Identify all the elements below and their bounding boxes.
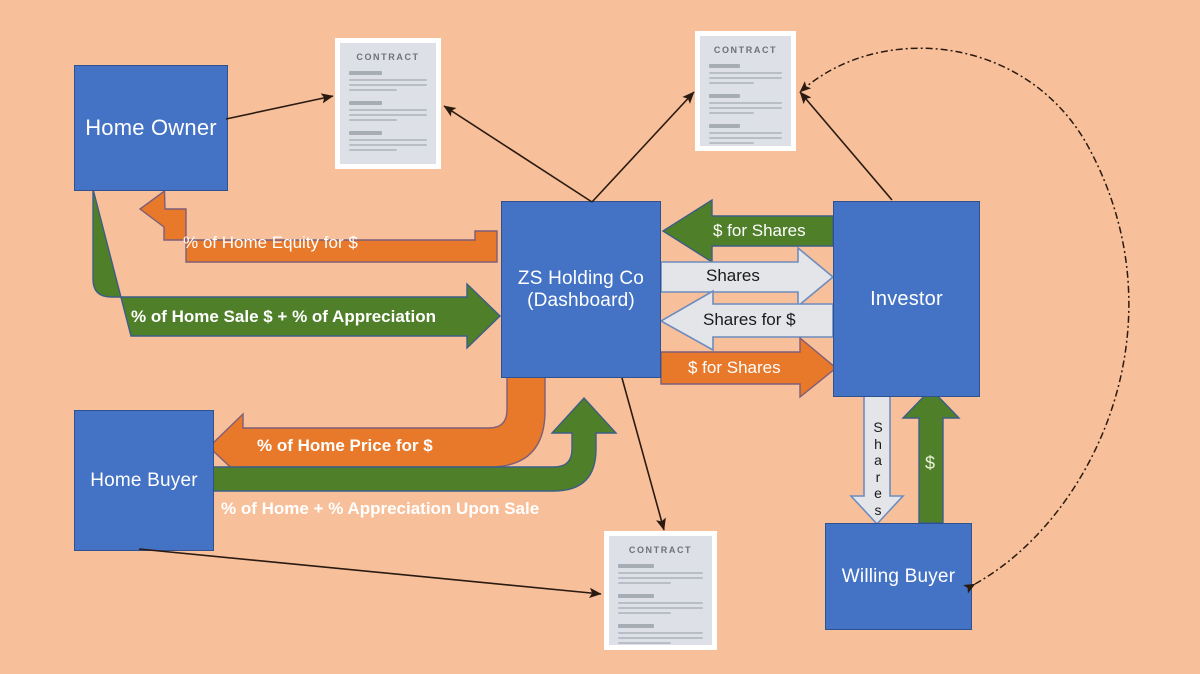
- connector-zs-to-owner-contract: [444, 106, 592, 202]
- connector-home-buyer-to-contract: [139, 549, 601, 594]
- diagram-canvas: Home Owner ZS Holding Co (Dashboard) Inv…: [0, 0, 1200, 674]
- connector-lines-layer: [0, 0, 1200, 674]
- connector-zs-to-investor-contract: [592, 92, 694, 202]
- connector-owner-to-contract: [226, 96, 333, 119]
- connector-willing-buyer-to-contract-arc: [800, 48, 1129, 584]
- connector-zs-to-buyer-contract: [622, 378, 664, 530]
- connector-investor-to-contract: [800, 92, 892, 200]
